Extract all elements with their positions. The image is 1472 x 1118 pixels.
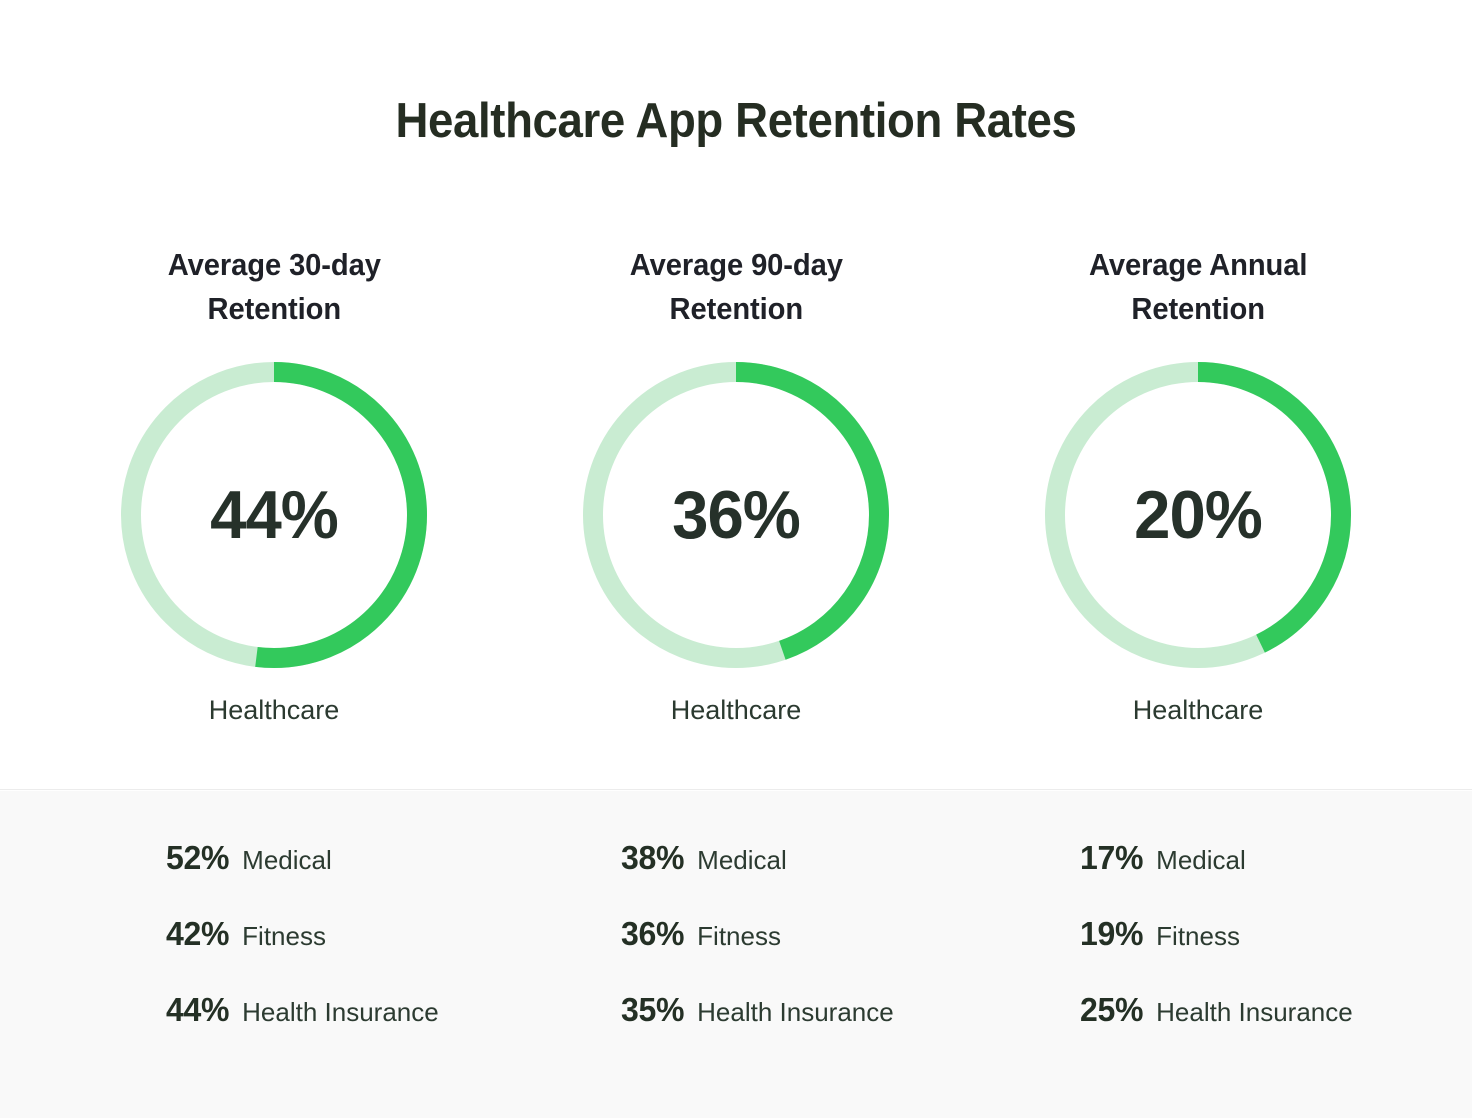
stat-value: 52% bbox=[166, 839, 229, 877]
gauges-row: Average 30-day Retention 44% Healthcare … bbox=[0, 243, 1472, 763]
stat-label: Medical bbox=[1156, 845, 1246, 876]
list-item: 38% Medical bbox=[620, 839, 787, 915]
stat-label: Medical bbox=[242, 845, 332, 876]
list-item: 44% Health Insurance bbox=[165, 991, 439, 1067]
stats-column-90-day: 38% Medical 36% Fitness 35% Health Insur… bbox=[505, 791, 967, 1118]
gauge-heading: Average 90-day Retention bbox=[629, 243, 842, 331]
page-title: Healthcare App Retention Rates bbox=[52, 93, 1421, 149]
stat-label: Health Insurance bbox=[697, 997, 894, 1028]
stat-value: 35% bbox=[621, 991, 684, 1029]
list-item: 52% Medical bbox=[165, 839, 332, 915]
gauge-card-90-day: Average 90-day Retention 36% Healthcare bbox=[505, 243, 967, 763]
donut-chart-30-day: 44% bbox=[121, 362, 427, 668]
gauge-heading: Average 30-day Retention bbox=[167, 243, 380, 331]
top-section: Healthcare App Retention Rates Average 3… bbox=[0, 0, 1472, 790]
gauge-footer-label: Healthcare bbox=[209, 695, 340, 726]
stat-value: 38% bbox=[621, 839, 684, 877]
gauge-card-30-day: Average 30-day Retention 44% Healthcare bbox=[43, 243, 505, 763]
stats-panel: 52% Medical 42% Fitness 44% Health Insur… bbox=[0, 791, 1472, 1118]
list-item: 25% Health Insurance bbox=[1079, 991, 1353, 1067]
stat-label: Health Insurance bbox=[242, 997, 439, 1028]
stats-row: 52% Medical 42% Fitness 44% Health Insur… bbox=[0, 791, 1472, 1118]
stat-value: 19% bbox=[1080, 915, 1143, 953]
list-item: 42% Fitness bbox=[165, 915, 326, 991]
donut-value: 44% bbox=[127, 362, 421, 668]
list-item: 36% Fitness bbox=[620, 915, 781, 991]
donut-value: 20% bbox=[1051, 362, 1345, 668]
donut-chart-90-day: 36% bbox=[583, 362, 889, 668]
stat-label: Health Insurance bbox=[1156, 997, 1353, 1028]
stats-column-30-day: 52% Medical 42% Fitness 44% Health Insur… bbox=[43, 791, 505, 1118]
stats-column-annual: 17% Medical 19% Fitness 25% Health Insur… bbox=[967, 791, 1429, 1118]
gauge-card-annual: Average Annual Retention 20% Healthcare bbox=[967, 243, 1429, 763]
gauge-footer-label: Healthcare bbox=[1133, 695, 1264, 726]
gauge-footer-label: Healthcare bbox=[671, 695, 802, 726]
list-item: 17% Medical bbox=[1079, 839, 1246, 915]
donut-chart-annual: 20% bbox=[1045, 362, 1351, 668]
list-item: 19% Fitness bbox=[1079, 915, 1240, 991]
stat-label: Fitness bbox=[697, 921, 781, 952]
gauge-heading: Average Annual Retention bbox=[1089, 243, 1307, 331]
stat-label: Fitness bbox=[1156, 921, 1240, 952]
stat-value: 36% bbox=[621, 915, 684, 953]
stat-label: Medical bbox=[697, 845, 787, 876]
donut-value: 36% bbox=[589, 362, 883, 668]
list-item: 35% Health Insurance bbox=[620, 991, 894, 1067]
stat-value: 25% bbox=[1080, 991, 1143, 1029]
stat-value: 44% bbox=[166, 991, 229, 1029]
stat-value: 17% bbox=[1080, 839, 1143, 877]
stat-label: Fitness bbox=[242, 921, 326, 952]
stat-value: 42% bbox=[166, 915, 229, 953]
